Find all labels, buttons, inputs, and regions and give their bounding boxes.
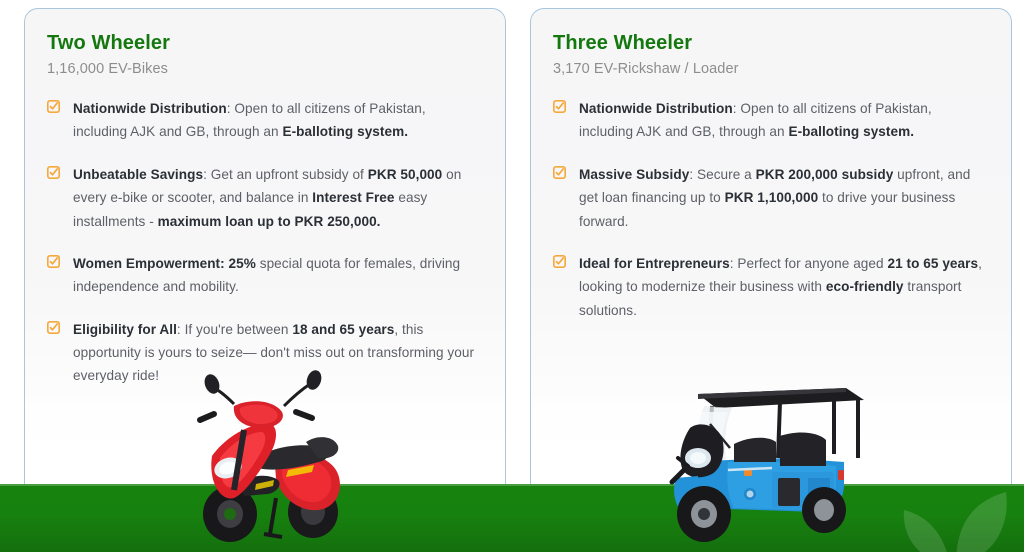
feature-text: Nationwide Distribution: Open to all cit… xyxy=(579,97,985,144)
feature-text-emphasis: Interest Free xyxy=(312,190,394,205)
feature-item: Nationwide Distribution: Open to all cit… xyxy=(553,97,985,144)
feature-text-emphasis: Ideal for Entrepreneurs xyxy=(579,256,730,271)
feature-text: Eligibility for All: If you're between 1… xyxy=(73,318,479,388)
feature-text-emphasis: PKR 50,000 xyxy=(368,167,443,182)
card-title: Three Wheeler xyxy=(553,31,985,55)
card-three-wheeler[interactable]: Three Wheeler 3,170 EV-Rickshaw / Loader… xyxy=(530,8,1012,500)
feature-text-emphasis: PKR 200,000 subsidy xyxy=(756,167,894,182)
feature-text: Women Empowerment: 25% special quota for… xyxy=(73,252,479,299)
feature-text-emphasis: 21 to 65 years xyxy=(887,256,978,271)
checkbox-checked-icon xyxy=(47,321,60,334)
feature-text-emphasis: Eligibility for All xyxy=(73,322,177,337)
checkbox-checked-icon xyxy=(47,166,60,179)
feature-text-segment: : Secure a xyxy=(689,167,755,182)
feature-item: Massive Subsidy: Secure a PKR 200,000 su… xyxy=(553,163,985,233)
feature-item: Nationwide Distribution: Open to all cit… xyxy=(47,97,479,144)
card-subtitle: 1,16,000 EV-Bikes xyxy=(47,61,479,77)
card-container: Two Wheeler 1,16,000 EV-Bikes Nationwide… xyxy=(0,0,1024,500)
feature-text-emphasis: Unbeatable Savings xyxy=(73,167,203,182)
ev-scheme-comparison-panel: Two Wheeler 1,16,000 EV-Bikes Nationwide… xyxy=(0,0,1024,552)
feature-text-segment: : If you're between xyxy=(177,322,292,337)
feature-item: Unbeatable Savings: Get an upfront subsi… xyxy=(47,163,479,233)
feature-text-emphasis: E-balloting system. xyxy=(282,124,408,139)
feature-text-emphasis: maximum loan up to PKR 250,000. xyxy=(158,214,381,229)
checkbox-checked-icon xyxy=(47,255,60,268)
green-ground-band xyxy=(0,484,1024,552)
feature-text: Unbeatable Savings: Get an upfront subsi… xyxy=(73,163,479,233)
feature-text: Massive Subsidy: Secure a PKR 200,000 su… xyxy=(579,163,985,233)
feature-text-emphasis: E-balloting system. xyxy=(788,124,914,139)
checkbox-checked-icon xyxy=(553,166,566,179)
feature-list: Nationwide Distribution: Open to all cit… xyxy=(47,97,479,388)
feature-text: Nationwide Distribution: Open to all cit… xyxy=(73,97,479,144)
feature-text-segment: : Get an upfront subsidy of xyxy=(203,167,368,182)
checkbox-checked-icon xyxy=(553,255,566,268)
card-subtitle: 3,170 EV-Rickshaw / Loader xyxy=(553,61,985,77)
card-title: Two Wheeler xyxy=(47,31,479,55)
feature-text-emphasis: Nationwide Distribution xyxy=(579,101,733,116)
feature-text-emphasis: Nationwide Distribution xyxy=(73,101,227,116)
feature-text-emphasis: 18 and 65 years xyxy=(292,322,394,337)
feature-item: Eligibility for All: If you're between 1… xyxy=(47,318,479,388)
feature-text-emphasis: eco-friendly xyxy=(826,279,904,294)
leaf-watermark-icon xyxy=(894,484,1014,552)
checkbox-checked-icon xyxy=(47,100,60,113)
card-two-wheeler[interactable]: Two Wheeler 1,16,000 EV-Bikes Nationwide… xyxy=(24,8,506,500)
feature-text: Ideal for Entrepreneurs: Perfect for any… xyxy=(579,252,985,322)
feature-item: Women Empowerment: 25% special quota for… xyxy=(47,252,479,299)
feature-text-emphasis: Women Empowerment: 25% xyxy=(73,256,256,271)
feature-list: Nationwide Distribution: Open to all cit… xyxy=(553,97,985,322)
feature-text-segment: : Perfect for anyone aged xyxy=(730,256,888,271)
checkbox-checked-icon xyxy=(553,100,566,113)
feature-item: Ideal for Entrepreneurs: Perfect for any… xyxy=(553,252,985,322)
ground-highlight-line xyxy=(0,484,1024,486)
feature-text-emphasis: Massive Subsidy xyxy=(579,167,689,182)
feature-text-emphasis: PKR 1,100,000 xyxy=(725,190,819,205)
